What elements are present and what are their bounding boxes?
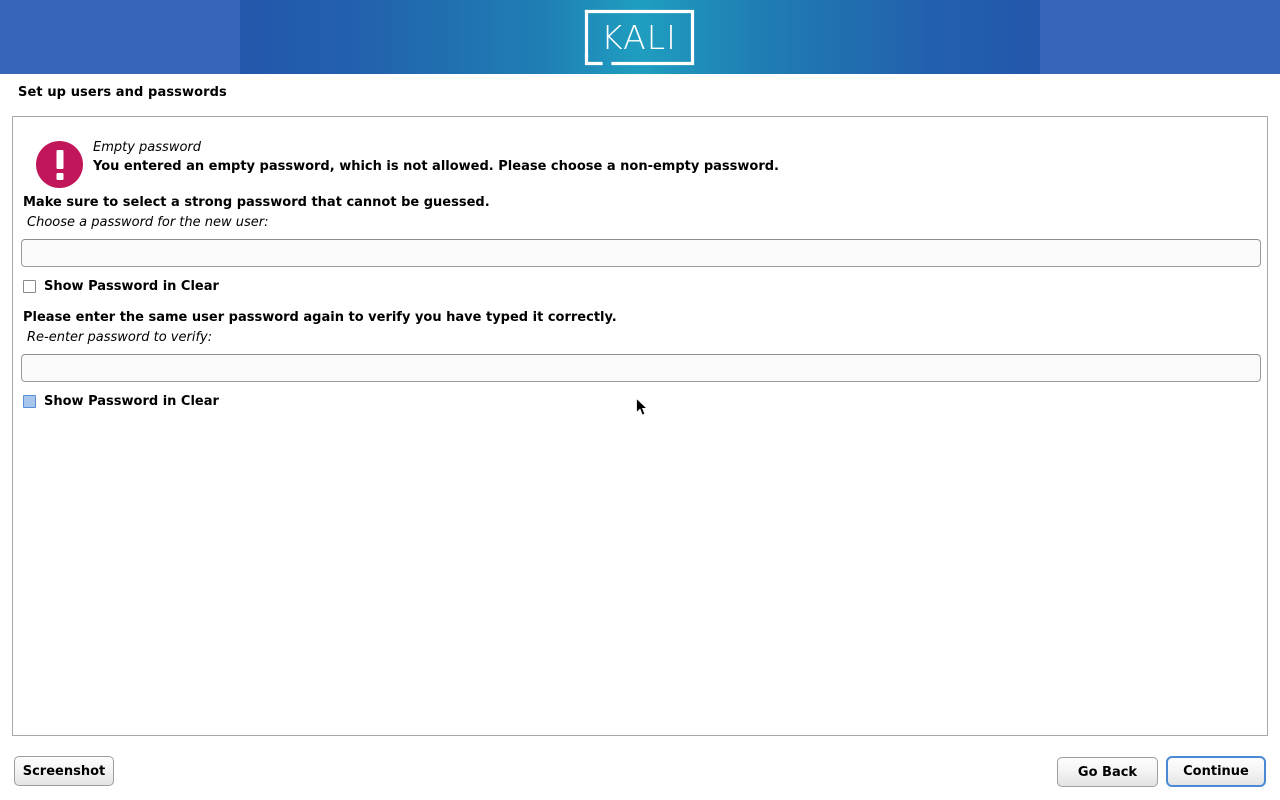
error-exclamation-icon [36,141,83,188]
kali-banner: KALI [0,0,1280,74]
verify-hint: Please enter the same user password agai… [23,310,617,325]
error-title: Empty password [93,140,201,155]
exclamation-dot [56,173,63,180]
svg-text:KALI: KALI [601,18,677,57]
continue-button[interactable]: Continue [1166,756,1266,787]
verify-password-input[interactable] [21,354,1261,382]
show-password-label-2: Show Password in Clear [44,394,219,409]
show-password-checkbox-2[interactable] [23,395,36,408]
installer-content-panel: Empty password You entered an empty pass… [12,116,1268,736]
show-password-in-clear-row-2[interactable]: Show Password in Clear [23,392,219,410]
password-hint: Make sure to select a strong password th… [23,195,490,210]
go-back-button[interactable]: Go Back [1057,757,1158,787]
password-field-label: Choose a password for the new user: [27,215,269,230]
password-input[interactable] [21,239,1261,267]
screenshot-button[interactable]: Screenshot [14,756,114,786]
show-password-label-1: Show Password in Clear [44,279,219,294]
kali-logo: KALI [583,8,696,67]
verify-field-label: Re-enter password to verify: [27,330,212,345]
show-password-checkbox-1[interactable] [23,280,36,293]
exclamation-bar [56,150,63,169]
error-message-block: Empty password You entered an empty pass… [25,129,1255,191]
page-title: Set up users and passwords [18,85,227,100]
error-description: You entered an empty password, which is … [93,159,779,174]
show-password-in-clear-row-1[interactable]: Show Password in Clear [23,277,219,295]
